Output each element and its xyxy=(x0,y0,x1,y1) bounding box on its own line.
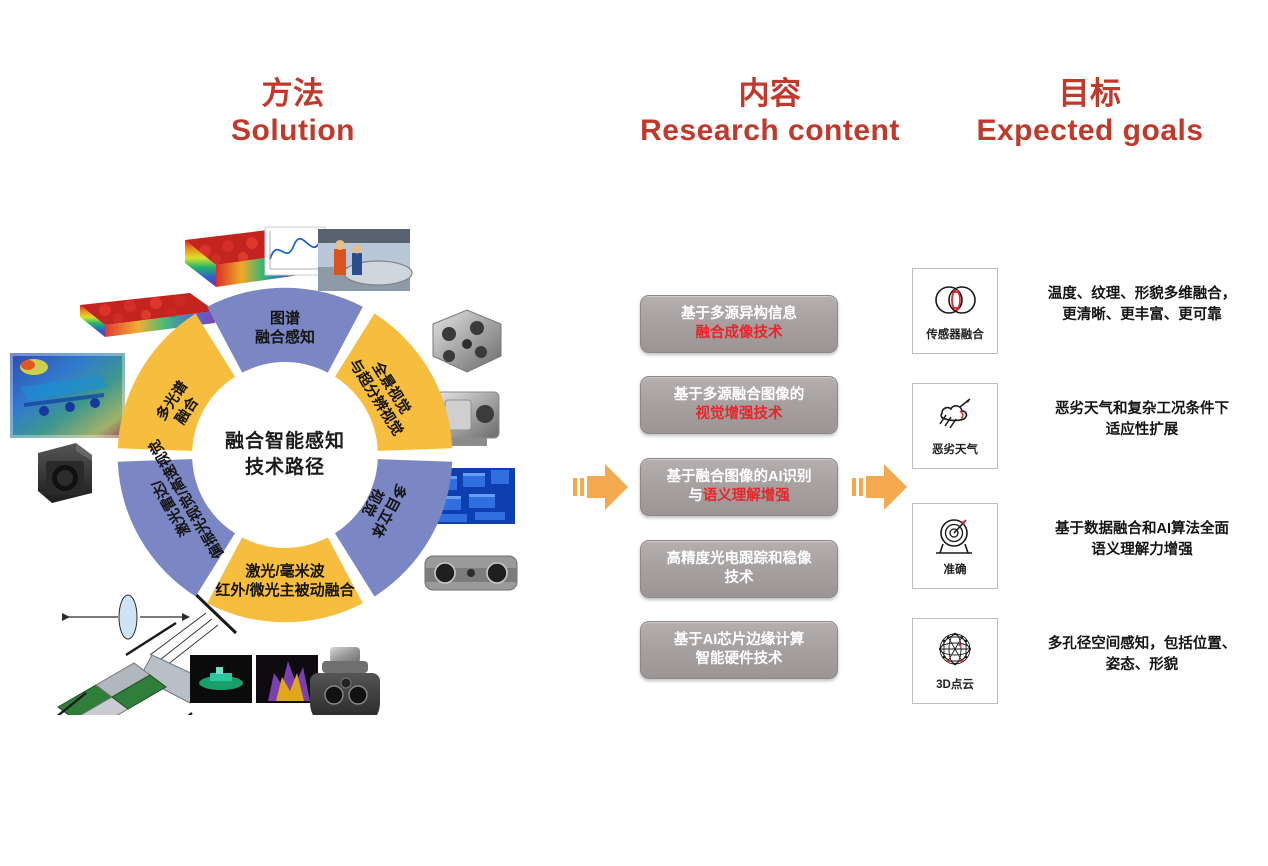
technology-roadmap-donut: 融合智能感知 技术路径 图谱 融合感知 全景视觉 与超分辨视觉 多目立体 视觉 … xyxy=(110,280,460,630)
research-box-line: 基于多源融合图像的 xyxy=(674,386,805,405)
goal-text-line: 基于数据融合和AI算法全面 xyxy=(1026,519,1258,540)
research-box-line: 智能硬件技术 xyxy=(696,650,783,669)
research-box-line: 技术 xyxy=(725,569,754,588)
column-header-goals: 目标 Expected goals xyxy=(930,76,1250,148)
night-vision-thumbnails xyxy=(190,655,318,703)
thermal-camera-device xyxy=(38,443,92,503)
column-header-content-en: Research content xyxy=(600,113,940,148)
thermal-scene-image xyxy=(10,353,125,438)
research-box-vision-enhancement[interactable]: 基于多源融合图像的 视觉增强技术 xyxy=(640,376,838,434)
research-box-ai-chip-edge-computing[interactable]: 基于AI芯片边缘计算 智能硬件技术 xyxy=(640,621,838,679)
column-header-content-cn: 内容 xyxy=(600,76,940,113)
research-box-line: 与语义理解增强 xyxy=(688,487,790,506)
goal-text-accuracy: 基于数据融合和AI算法全面 语义理解力增强 xyxy=(1026,519,1258,561)
research-box-line: 高精度光电跟踪和稳像 xyxy=(667,550,812,569)
rain-cloud-icon xyxy=(930,391,980,439)
column-header-solution-cn: 方法 xyxy=(168,76,418,113)
research-box-photoelectric-tracking[interactable]: 高精度光电跟踪和稳像 技术 xyxy=(640,540,838,598)
research-box-line: 融合成像技术 xyxy=(696,324,783,343)
diagram-canvas: 方法 Solution 内容 Research content 目标 Expec… xyxy=(0,0,1268,866)
goal-text-line: 多孔径空间感知，包括位置、 xyxy=(1026,634,1258,655)
point-cloud-sphere-icon xyxy=(930,626,980,674)
goal-text-line: 更清晰、更丰富、更可靠 xyxy=(1026,305,1258,326)
goal-text-point-cloud-3d: 多孔径空间感知，包括位置、 姿态、形貌 xyxy=(1026,634,1258,676)
arrow-solution-to-content xyxy=(573,460,629,514)
research-box-line: 视觉增强技术 xyxy=(696,405,783,424)
column-header-solution-en: Solution xyxy=(168,113,418,148)
goal-card-caption: 准确 xyxy=(944,561,967,577)
goal-card-caption: 恶劣天气 xyxy=(932,441,978,457)
donut-center-line1: 融合智能感知 xyxy=(225,429,345,455)
goal-text-line: 适应性扩展 xyxy=(1026,420,1258,441)
goal-text-bad-weather: 恶劣天气和复杂工况条件下 适应性扩展 xyxy=(1026,399,1258,441)
goal-row-bad-weather: 恶劣天气 恶劣天气和复杂工况条件下 适应性扩展 xyxy=(912,383,1262,475)
donut-segment-top[interactable] xyxy=(207,288,363,373)
goal-card-bad-weather[interactable]: 恶劣天气 xyxy=(912,383,998,469)
goal-text-line: 温度、纹理、形貌多维融合， xyxy=(1026,284,1258,305)
column-header-goals-en: Expected goals xyxy=(930,113,1250,148)
research-box-fusion-imaging[interactable]: 基于多源异构信息 融合成像技术 xyxy=(640,295,838,353)
signal-plot-image xyxy=(265,227,325,275)
goal-card-caption: 传感器融合 xyxy=(926,326,984,342)
goal-text-line: 恶劣天气和复杂工况条件下 xyxy=(1026,399,1258,420)
goal-text-line: 姿态、形貌 xyxy=(1026,655,1258,676)
research-box-line: 基于AI芯片边缘计算 xyxy=(674,631,805,650)
goal-row-accuracy: 准确 基于数据融合和AI算法全面 语义理解力增强 xyxy=(912,503,1262,595)
donut-center-line2: 技术路径 xyxy=(245,455,325,481)
goal-row-point-cloud-3d: 3D点云 多孔径空间感知，包括位置、 姿态、形貌 xyxy=(912,618,1262,710)
research-box-line: 基于多源异构信息 xyxy=(681,305,797,324)
eo-turret-device xyxy=(310,647,380,715)
target-dartboard-icon xyxy=(930,511,980,559)
column-header-content: 内容 Research content xyxy=(600,76,940,148)
goal-card-sensor-fusion[interactable]: 传感器融合 xyxy=(912,268,998,354)
arrow-content-to-goals xyxy=(852,460,908,514)
donut-center-label: 融合智能感知 技术路径 xyxy=(197,367,373,543)
goal-text-line: 语义理解力增强 xyxy=(1026,540,1258,561)
research-box-ai-recognition-semantics[interactable]: 基于融合图像的AI识别 与语义理解增强 xyxy=(640,458,838,516)
column-header-solution: 方法 Solution xyxy=(168,76,418,148)
goal-text-sensor-fusion: 温度、纹理、形貌多维融合， 更清晰、更丰富、更可靠 xyxy=(1026,284,1258,326)
goal-card-caption: 3D点云 xyxy=(936,676,974,692)
overlapping-circles-icon xyxy=(930,276,980,324)
goal-card-point-cloud-3d[interactable]: 3D点云 xyxy=(912,618,998,704)
research-box-line: 基于融合图像的AI识别 xyxy=(667,468,812,487)
donut-segment-bottom[interactable] xyxy=(207,537,363,622)
column-header-goals-cn: 目标 xyxy=(930,76,1250,113)
goal-row-sensor-fusion: 传感器融合 温度、纹理、形貌多维融合， 更清晰、更丰富、更可靠 xyxy=(912,268,1262,360)
goal-card-accuracy[interactable]: 准确 xyxy=(912,503,998,589)
